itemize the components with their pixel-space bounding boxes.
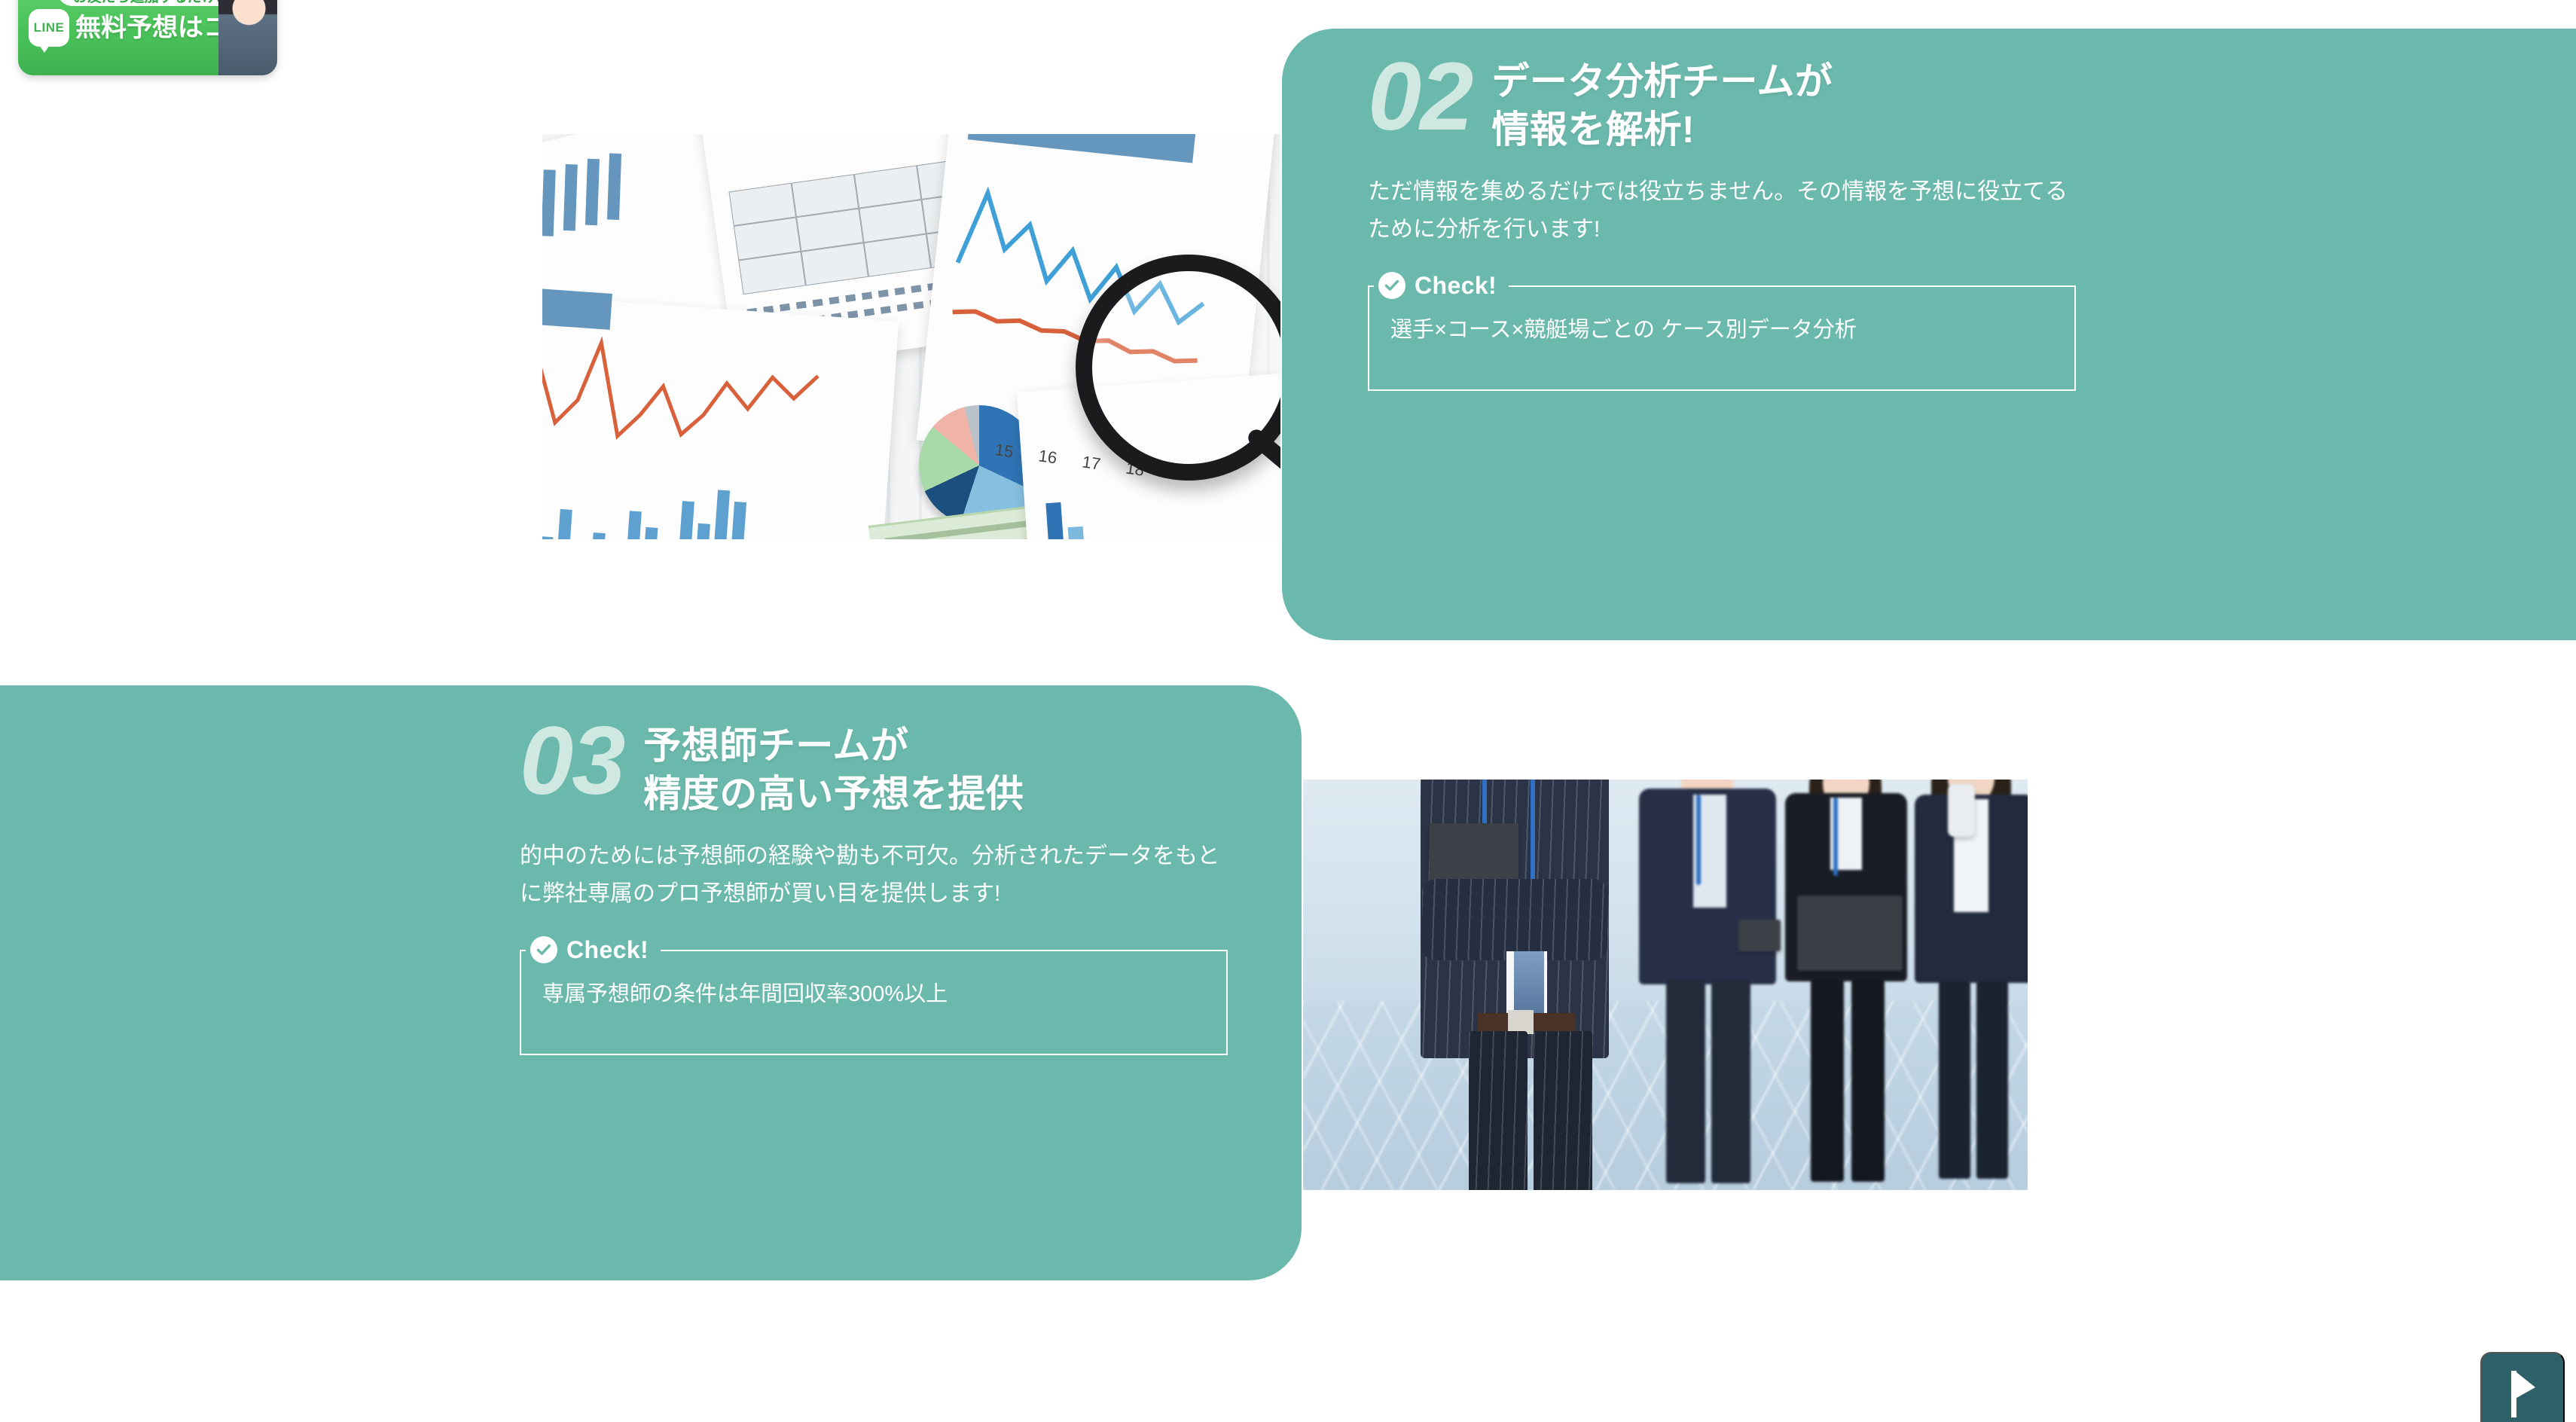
section-02-heading: 02 データ分析チームが 情報を解析! [1368, 47, 2091, 154]
page-root: お友だち追加するだけ! LINE 無料予想はコチラ 02 データ分析チームが 情… [0, 0, 2576, 1422]
section-02-content: 02 データ分析チームが 情報を解析! ただ情報を集めるだけでは役立ちません。そ… [1368, 47, 2091, 391]
section-02-check-text: 選手×コース×競艇場ごとの ケース別データ分析 [1390, 313, 2053, 348]
flag-up-icon [2505, 1368, 2540, 1420]
section-02-image: 15161718 [542, 134, 1280, 539]
line-logo-text: LINE [34, 20, 65, 35]
section-card-03: 03 予想師チームが 精度の高い予想を提供 的中のためには予想師の経験や勘も不可… [0, 685, 1302, 1280]
photo-person-background-3 [1898, 780, 2028, 1190]
photo-person-foreground [1386, 780, 1634, 1190]
scroll-to-top-button[interactable] [2480, 1352, 2565, 1422]
section-03-check-word: Check! [566, 938, 649, 962]
section-02-title-line-1: データ分析チームが [1491, 57, 1833, 105]
section-02-title-line-2: 情報を解析! [1491, 105, 1833, 154]
section-02-check-word: Check! [1415, 273, 1497, 298]
section-03-content: 03 予想師チームが 精度の高い予想を提供 的中のためには予想師の経験や勘も不可… [520, 711, 1243, 1055]
section-03-title-line-1: 予想師チームが [643, 722, 1024, 770]
section-03-step-number: 03 [520, 711, 624, 811]
line-promo-banner[interactable]: お友だち追加するだけ! LINE 無料予想はコチラ [18, 0, 277, 75]
check-circle-icon [1378, 272, 1406, 299]
check-circle-icon [530, 936, 557, 963]
section-03-image [1303, 780, 2028, 1190]
section-02-check-block: 選手×コース×競艇場ごとの ケース別データ分析 Check! [1368, 285, 2076, 391]
paper-sheet-barchart [542, 294, 899, 539]
data-analysis-photo: 15161718 [542, 134, 1280, 539]
section-03-description: 的中のためには予想師の経験や勘も不可欠。分析されたデータをもとに弊社専属のプロ予… [520, 838, 1228, 914]
section-02-check-label: Check! [1374, 269, 1509, 302]
line-banner-bubble-text: お友だち追加するだけ! [73, 0, 221, 6]
section-02-description: ただ情報を集めるだけでは役立ちません。その情報を予想に役立てるために分析を行いま… [1368, 173, 2076, 249]
line-logo-icon: LINE [29, 9, 69, 47]
photo-person-background-1 [1627, 780, 1785, 1190]
section-03-check-label: Check! [526, 933, 661, 966]
section-03-title-line-2: 精度の高い予想を提供 [643, 770, 1024, 818]
line-banner-avatar [218, 0, 277, 75]
section-card-02: 02 データ分析チームが 情報を解析! ただ情報を集めるだけでは役立ちません。そ… [1282, 29, 2576, 640]
business-team-photo [1303, 780, 2028, 1190]
section-03-check-text: 専属予想師の条件は年間回収率300%以上 [542, 977, 1205, 1012]
line-banner-bubble: お友だち追加するだけ! [57, 0, 237, 6]
section-02-title: データ分析チームが 情報を解析! [1491, 47, 1833, 154]
section-02-step-number: 02 [1368, 47, 1472, 147]
section-03-title: 予想師チームが 精度の高い予想を提供 [643, 711, 1024, 818]
section-03-check-block: 専属予想師の条件は年間回収率300%以上 Check! [520, 950, 1228, 1055]
section-03-heading: 03 予想師チームが 精度の高い予想を提供 [520, 711, 1243, 818]
